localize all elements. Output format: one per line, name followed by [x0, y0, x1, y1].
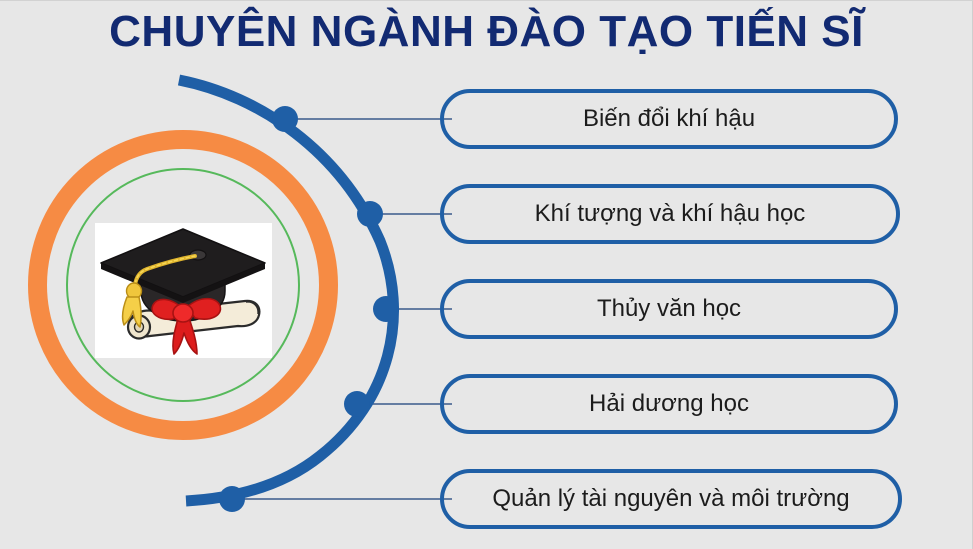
item-label: Biến đổi khí hậu [583, 105, 755, 133]
item-pill-khi-tuong-va-khi-hau-hoc[interactable]: Khí tượng và khí hậu học [440, 184, 900, 244]
item-label: Khí tượng và khí hậu học [535, 200, 806, 228]
arc-node-4 [344, 391, 370, 417]
item-pill-hai-duong-hoc[interactable]: Hải dương học [440, 374, 898, 434]
item-pill-quan-ly-tai-nguyen-moi-truong[interactable]: Quản lý tài nguyên và môi trường [440, 469, 902, 529]
item-pill-thuy-van-hoc[interactable]: Thủy văn học [440, 279, 898, 339]
page-title: CHUYÊN NGÀNH ĐÀO TẠO TIẾN SĨ [0, 7, 973, 58]
item-pill-bien-doi-khi-hau[interactable]: Biến đổi khí hậu [440, 89, 898, 149]
emblem [28, 130, 338, 440]
arc-node-5 [219, 486, 245, 512]
graduation-cap-image [95, 223, 272, 358]
arc-node-2 [357, 201, 383, 227]
item-label: Quản lý tài nguyên và môi trường [492, 485, 849, 513]
slide-canvas: CHUYÊN NGÀNH ĐÀO TẠO TIẾN SĨ [0, 0, 973, 549]
arc-node-3 [373, 296, 399, 322]
item-label: Thủy văn học [597, 295, 741, 323]
item-label: Hải dương học [589, 390, 749, 418]
arc-node-1 [272, 106, 298, 132]
